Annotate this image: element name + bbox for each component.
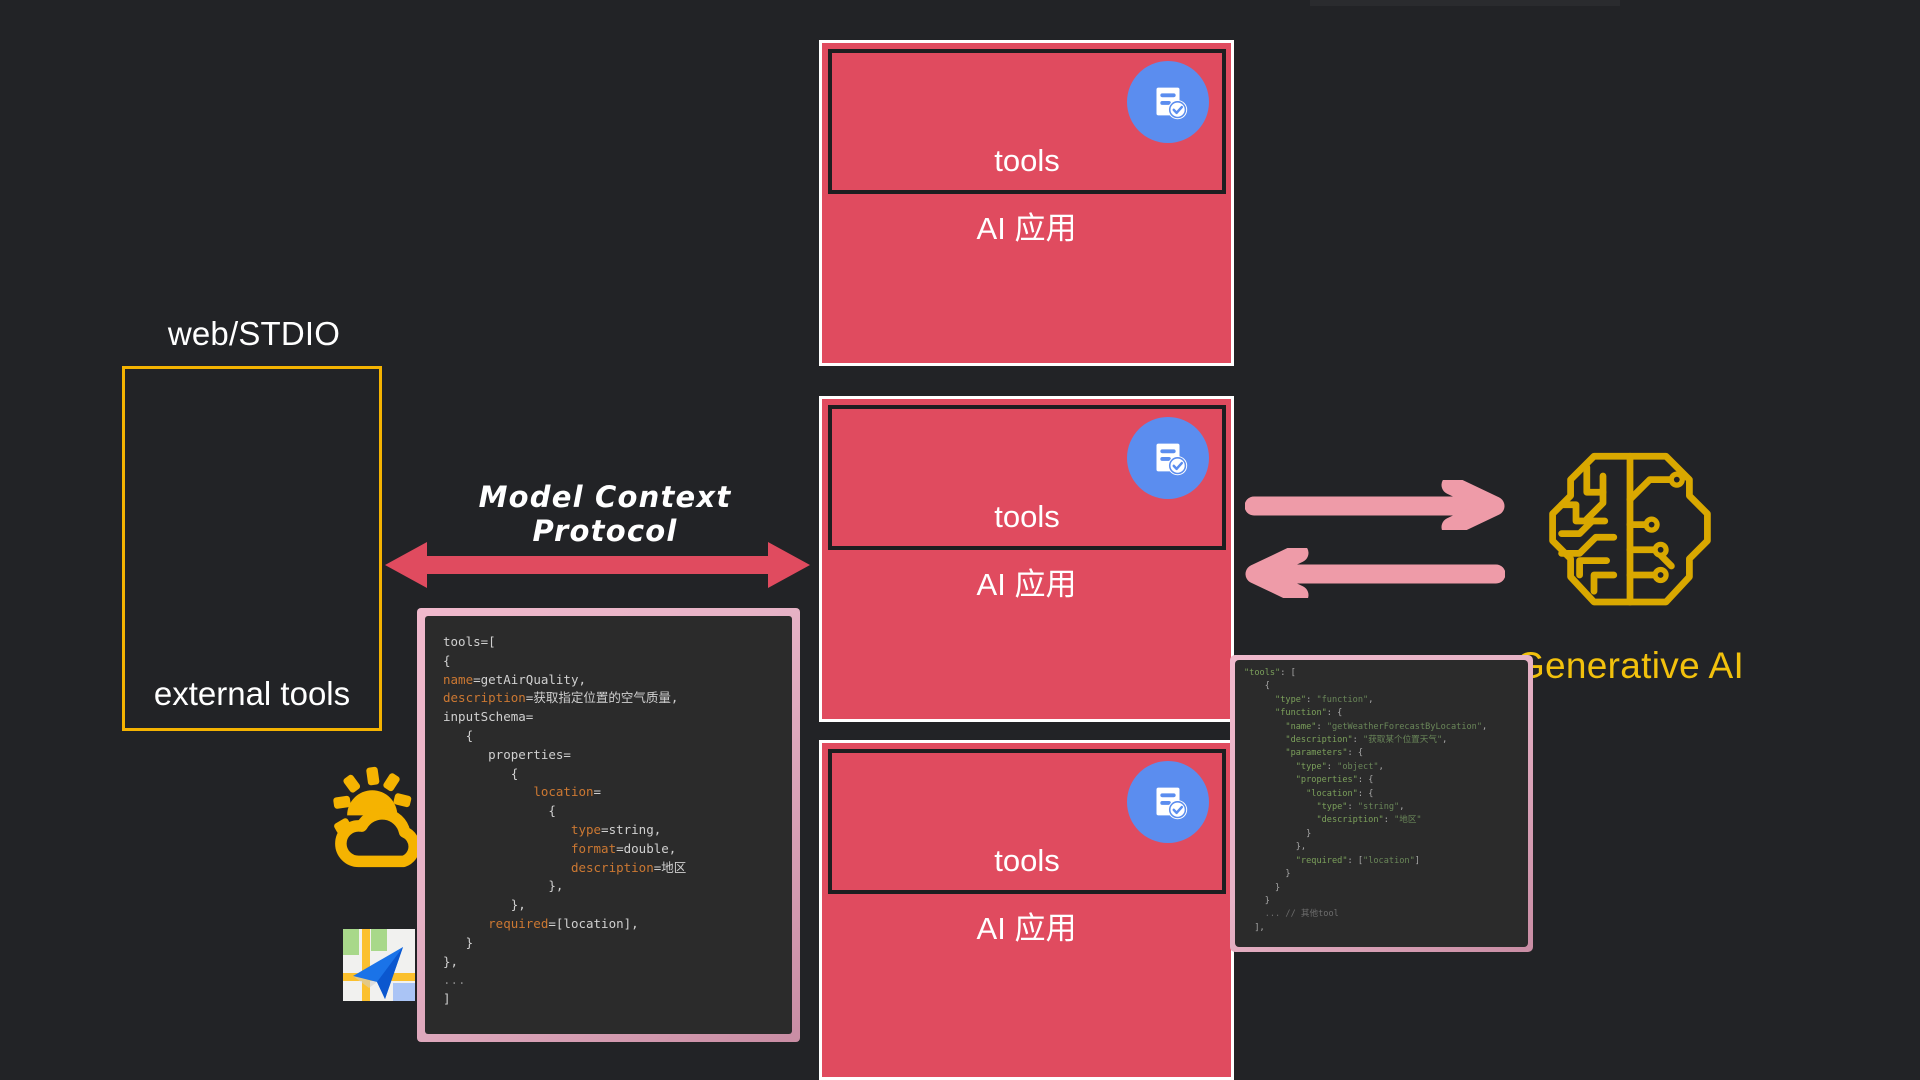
mcp-bidirectional-arrow-icon xyxy=(385,540,810,590)
ai-app-panel[interactable]: tools AI 应用 xyxy=(819,396,1234,722)
transport-label: web/STDIO xyxy=(122,315,386,353)
ai-app-panel[interactable]: tools AI 应用 xyxy=(819,740,1234,1080)
map-navigation-icon xyxy=(343,929,415,1001)
mcp-tools-schema-code-block[interactable]: tools=[ { name=getAirQuality, descriptio… xyxy=(417,608,800,1042)
tools-label: tools xyxy=(832,143,1222,179)
ai-app-label: AI 应用 xyxy=(822,203,1231,248)
ai-app-label: AI 应用 xyxy=(822,903,1231,948)
document-check-icon xyxy=(1145,779,1191,825)
background-patch xyxy=(1310,0,1620,6)
mcp-protocol-label: Model Context Protocol xyxy=(415,480,795,548)
document-check-badge xyxy=(1127,417,1209,499)
ai-app-label: AI 应用 xyxy=(822,559,1231,604)
ai-app-panel[interactable]: tools AI 应用 xyxy=(819,40,1234,366)
diagram-canvas: web/STDIO exter xyxy=(0,0,1920,1080)
tools-label: tools xyxy=(832,843,1222,879)
external-tools-label: external tools xyxy=(122,675,382,713)
llm-function-calling-code: "tools": [ { "type": "function", "functi… xyxy=(1235,660,1528,947)
mcp-tools-schema-code: tools=[ { name=getAirQuality, descriptio… xyxy=(425,616,792,1034)
tools-box[interactable]: tools xyxy=(828,749,1226,894)
generative-ai-label: Generative AI xyxy=(1500,645,1760,687)
llm-function-calling-code-block[interactable]: "tools": [ { "type": "function", "functi… xyxy=(1230,655,1533,952)
tools-box[interactable]: tools xyxy=(828,49,1226,194)
document-check-icon xyxy=(1145,435,1191,481)
document-check-badge xyxy=(1127,61,1209,143)
tools-label: tools xyxy=(832,499,1222,535)
document-check-icon xyxy=(1145,79,1191,125)
generative-ai-brain-icon xyxy=(1540,440,1720,620)
arrow-left-icon xyxy=(1245,548,1505,598)
arrow-right-icon xyxy=(1245,480,1505,530)
document-check-badge xyxy=(1127,761,1209,843)
tools-box[interactable]: tools xyxy=(828,405,1226,550)
